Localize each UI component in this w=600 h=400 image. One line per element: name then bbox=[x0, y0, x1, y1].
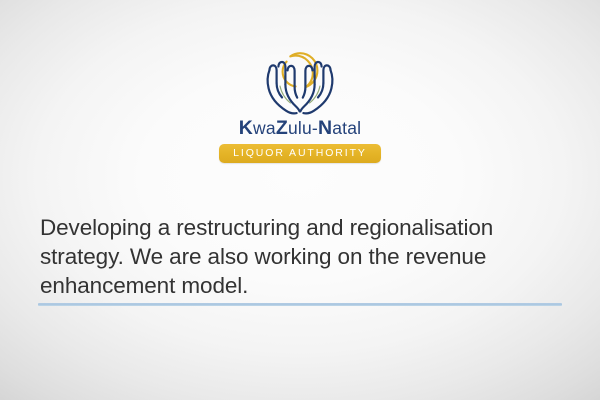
slide-body-text: Developing a restructuring and regionali… bbox=[40, 213, 560, 300]
cupped-hands-with-crescent-moon-icon bbox=[256, 50, 344, 116]
body-line: strategy. We are also working on the rev… bbox=[40, 242, 560, 271]
logo-wordmark: KwaZulu-Natal bbox=[239, 119, 362, 139]
wordmark-segment: N bbox=[318, 117, 332, 139]
wordmark-segment: wa bbox=[253, 118, 276, 138]
wordmark-segment: atal bbox=[332, 118, 361, 138]
body-line: enhancement model. bbox=[40, 271, 560, 300]
logo-banner: LIQUOR AUTHORITY bbox=[219, 144, 381, 163]
wordmark-segment: K bbox=[239, 117, 253, 139]
presentation-slide: KwaZulu-Natal LIQUOR AUTHORITY Developin… bbox=[0, 0, 600, 400]
wordmark-segment: ulu- bbox=[288, 118, 318, 138]
wordmark-segment: Z bbox=[276, 117, 288, 139]
logo-banner-label: LIQUOR AUTHORITY bbox=[233, 147, 367, 159]
horizontal-divider bbox=[38, 303, 562, 306]
organisation-logo: KwaZulu-Natal LIQUOR AUTHORITY bbox=[0, 50, 600, 163]
body-line: Developing a restructuring and regionali… bbox=[40, 213, 560, 242]
